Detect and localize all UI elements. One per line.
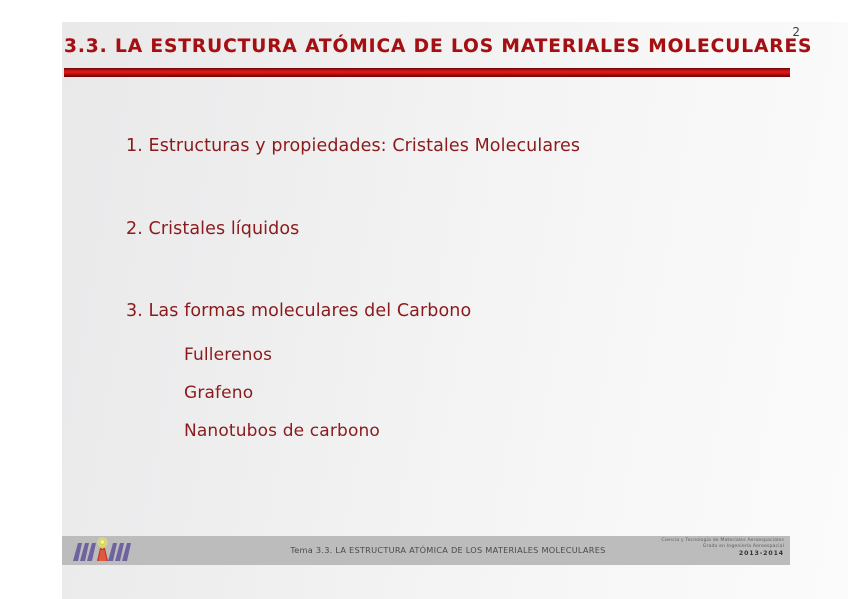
list-item: 3. Las formas moleculares del Carbono bbox=[126, 303, 766, 321]
footer-topic-text: Tema 3.3. LA ESTRUCTURA ATÓMICA DE LOS M… bbox=[238, 545, 658, 555]
spacer bbox=[126, 238, 766, 303]
spacer bbox=[126, 364, 766, 385]
footer-academic-year: 2013-2014 bbox=[661, 549, 784, 558]
spacer bbox=[126, 402, 766, 423]
page-title: 3.3. LA ESTRUCTURA ATÓMICA DE LOS MATERI… bbox=[64, 38, 804, 57]
outline-list: 1. Estructuras y propiedades: Cristales … bbox=[126, 138, 766, 440]
left-margin bbox=[0, 0, 62, 599]
title-underline-rule bbox=[64, 68, 790, 77]
spacer bbox=[126, 156, 766, 221]
footer-course-name: Ciencia y Tecnología de Materiales Aeroe… bbox=[661, 538, 784, 544]
list-item: Nanotubos de carbono bbox=[184, 423, 766, 440]
list-item: 1. Estructuras y propiedades: Cristales … bbox=[126, 138, 766, 156]
slide: 2 3.3. LA ESTRUCTURA ATÓMICA DE LOS MATE… bbox=[0, 0, 848, 599]
list-item: Fullerenos bbox=[184, 347, 766, 364]
top-margin bbox=[0, 0, 848, 22]
course-logo bbox=[70, 537, 132, 564]
title-block: 3.3. LA ESTRUCTURA ATÓMICA DE LOS MATERI… bbox=[64, 38, 804, 57]
footer-bar: Tema 3.3. LA ESTRUCTURA ATÓMICA DE LOS M… bbox=[62, 536, 790, 565]
list-item: 2. Cristales líquidos bbox=[126, 221, 766, 239]
footer-course-block: Ciencia y Tecnología de Materiales Aeroe… bbox=[661, 538, 784, 558]
spacer bbox=[126, 321, 766, 347]
list-item: Grafeno bbox=[184, 385, 766, 402]
